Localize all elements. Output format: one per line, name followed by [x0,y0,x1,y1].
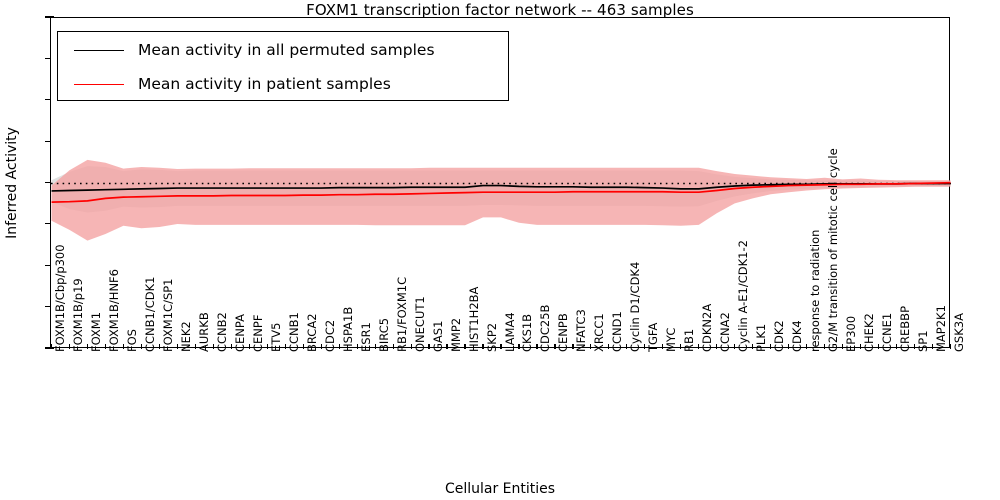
x-tick-mark [87,344,88,349]
x-tick-label: BIRC5 [379,318,391,352]
x-tick-label: SP1 [918,330,930,352]
x-tick-label: CCNA2 [720,312,732,352]
x-tick-mark [500,344,501,349]
x-tick-label: ESR1 [361,322,373,352]
x-tick-mark [177,344,178,349]
x-tick-mark [375,344,376,349]
x-tick-label: FOXM1B/Cbp/p300 [55,244,67,352]
x-tick-label: response to radiation [810,230,822,352]
x-tick-mark [464,344,465,349]
x-tick-mark [141,344,142,349]
x-tick-label: CDK2 [774,320,786,352]
x-tick-label: Cyclin D1/CDK4 [630,262,642,352]
x-tick-mark [339,344,340,349]
x-tick-mark [231,344,232,349]
x-tick-label: SKP2 [487,323,499,352]
x-tick-label: MMP2 [451,318,463,352]
x-tick-mark [878,344,879,349]
x-tick-label: RB1/FOXM1C [397,277,409,352]
x-tick-mark [285,344,286,349]
x-tick-label: CENPF [253,315,265,352]
x-tick-label: CKS1B [522,314,534,352]
x-tick-mark [411,344,412,349]
x-tick-label: TGFA [648,323,660,352]
legend-label: Mean activity in patient samples [138,75,391,93]
x-tick-label: FOXM1B/HNF6 [109,269,121,352]
legend-label: Mean activity in all permuted samples [138,41,435,59]
x-tick-mark [69,344,70,349]
figure: FOXM1 transcription factor network -- 46… [0,0,1000,500]
x-tick-label: CENPB [558,313,570,352]
x-tick-mark [105,344,106,349]
x-tick-mark [932,344,933,349]
x-axis-label: Cellular Entities [0,481,1000,497]
x-tick-mark [213,344,214,349]
x-tick-label: AURKB [199,312,211,352]
x-tick-label: FOS [127,329,139,352]
x-tick-label: CDKN2A [702,304,714,352]
x-tick-label: NFATC3 [576,309,588,352]
legend: Mean activity in all permuted samplesMea… [57,31,509,101]
x-tick-label: CENPA [235,314,247,352]
x-tick-label: NEK2 [181,321,193,352]
x-tick-label: BRCA2 [307,313,319,352]
x-tick-mark [446,344,447,349]
x-tick-label: ETV5 [271,323,283,352]
x-tick-mark [195,344,196,349]
patient-confidence-band [52,160,951,241]
x-tick-label: CCNE1 [882,313,894,352]
x-tick-label: CDC25B [540,305,552,352]
x-tick-label: HSPA1B [343,307,355,352]
x-tick-label: CCNB1 [289,312,301,352]
x-tick-label: CCNB2 [217,312,229,352]
x-tick-mark [321,344,322,349]
x-tick-label: CCNB1/CDK1 [145,277,157,353]
x-tick-mark [393,344,394,349]
legend-line-swatch [74,84,124,85]
x-tick-label: FOXM1 [91,312,103,352]
x-tick-label: CDC2 [325,320,337,352]
x-tick-mark [159,344,160,349]
x-tick-label: FOXM1C/SP1 [163,278,175,352]
x-tick-label: MAP2K1 [936,305,948,352]
x-tick-mark [860,344,861,349]
x-tick-label: CREBBP [900,306,912,352]
x-tick-label: HIST1H2BA [469,287,481,352]
x-tick-label: PLK1 [756,324,768,352]
y-axis-label: Inferred Activity [4,103,20,263]
x-tick-mark [428,344,429,349]
x-tick-label: GSK3A [954,313,966,352]
x-tick-label: G2/M transition of mitotic cell cycle [828,148,840,352]
x-tick-label: LAMA4 [505,312,517,352]
x-tick-mark [303,344,304,349]
legend-item: Mean activity in patient samples [58,67,510,102]
x-tick-label: CHEK2 [864,313,876,352]
x-tick-label: GAS1 [433,321,445,352]
x-tick-mark [482,344,483,349]
x-tick-mark [51,344,52,349]
x-tick-mark [267,344,268,349]
x-tick-mark [914,344,915,349]
x-tick-label: ONECUT1 [415,296,427,352]
x-tick-mark [896,344,897,349]
x-tick-label: RB1 [684,329,696,352]
x-tick-label: FOXM1B/p19 [73,278,85,352]
x-tick-label: Cyclin A-E1/CDK1-2 [738,240,750,352]
x-tick-mark [357,344,358,349]
x-tick-mark [123,344,124,349]
x-tick-mark [249,344,250,349]
x-tick-label: EP300 [846,316,858,352]
legend-item: Mean activity in all permuted samples [58,33,510,68]
x-tick-label: MYC [666,328,678,352]
legend-line-swatch [74,50,124,51]
x-tick-label: XRCC1 [594,313,606,352]
x-tick-label: CCND1 [612,311,624,352]
x-tick-mark [950,344,951,349]
x-tick-label: CDK4 [792,320,804,352]
